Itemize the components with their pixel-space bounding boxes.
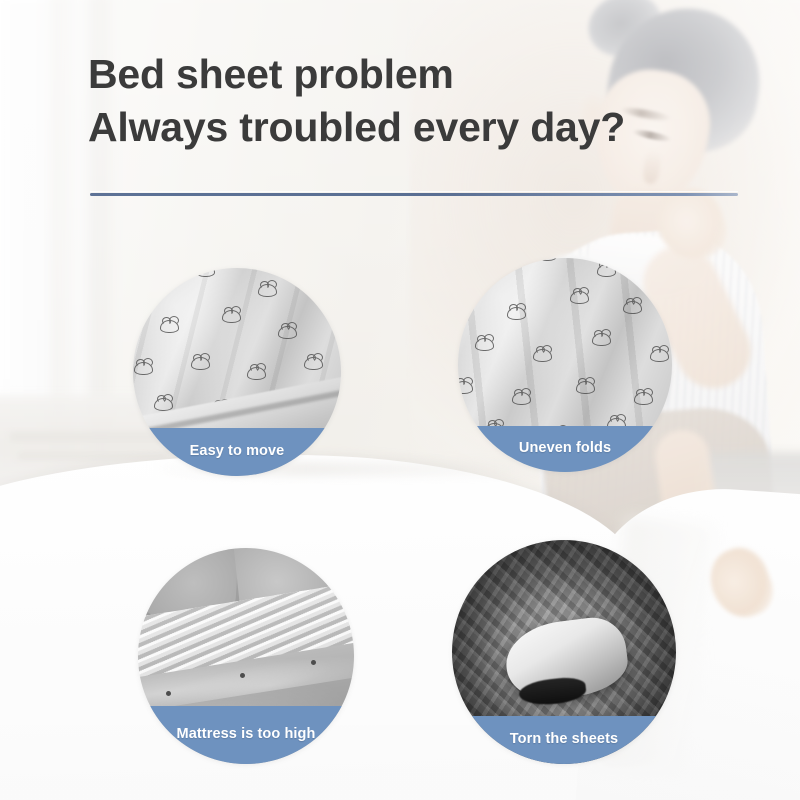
mattress-vent-button <box>166 691 171 696</box>
problem-card-torn-the-sheets[interactable]: Torn the sheets <box>452 540 676 764</box>
product-infographic: Bed sheet problem Always troubled every … <box>0 0 800 800</box>
problem-card-easy-to-move[interactable]: Easy to move <box>133 268 341 476</box>
mattress-vent-button <box>240 673 245 678</box>
card-caption: Uneven folds <box>458 426 672 472</box>
card-caption: Easy to move <box>133 428 341 476</box>
card-caption: Mattress is too high <box>138 706 354 764</box>
window-frame <box>52 0 86 460</box>
problem-card-mattress-too-high[interactable]: Mattress is too high <box>138 548 354 764</box>
divider-rule <box>90 193 738 196</box>
problem-card-uneven-folds[interactable]: Uneven folds <box>458 258 672 472</box>
divider-highlight <box>90 191 738 192</box>
page-title: Bed sheet problem Always troubled every … <box>88 48 748 154</box>
card-caption: Torn the sheets <box>452 716 676 764</box>
